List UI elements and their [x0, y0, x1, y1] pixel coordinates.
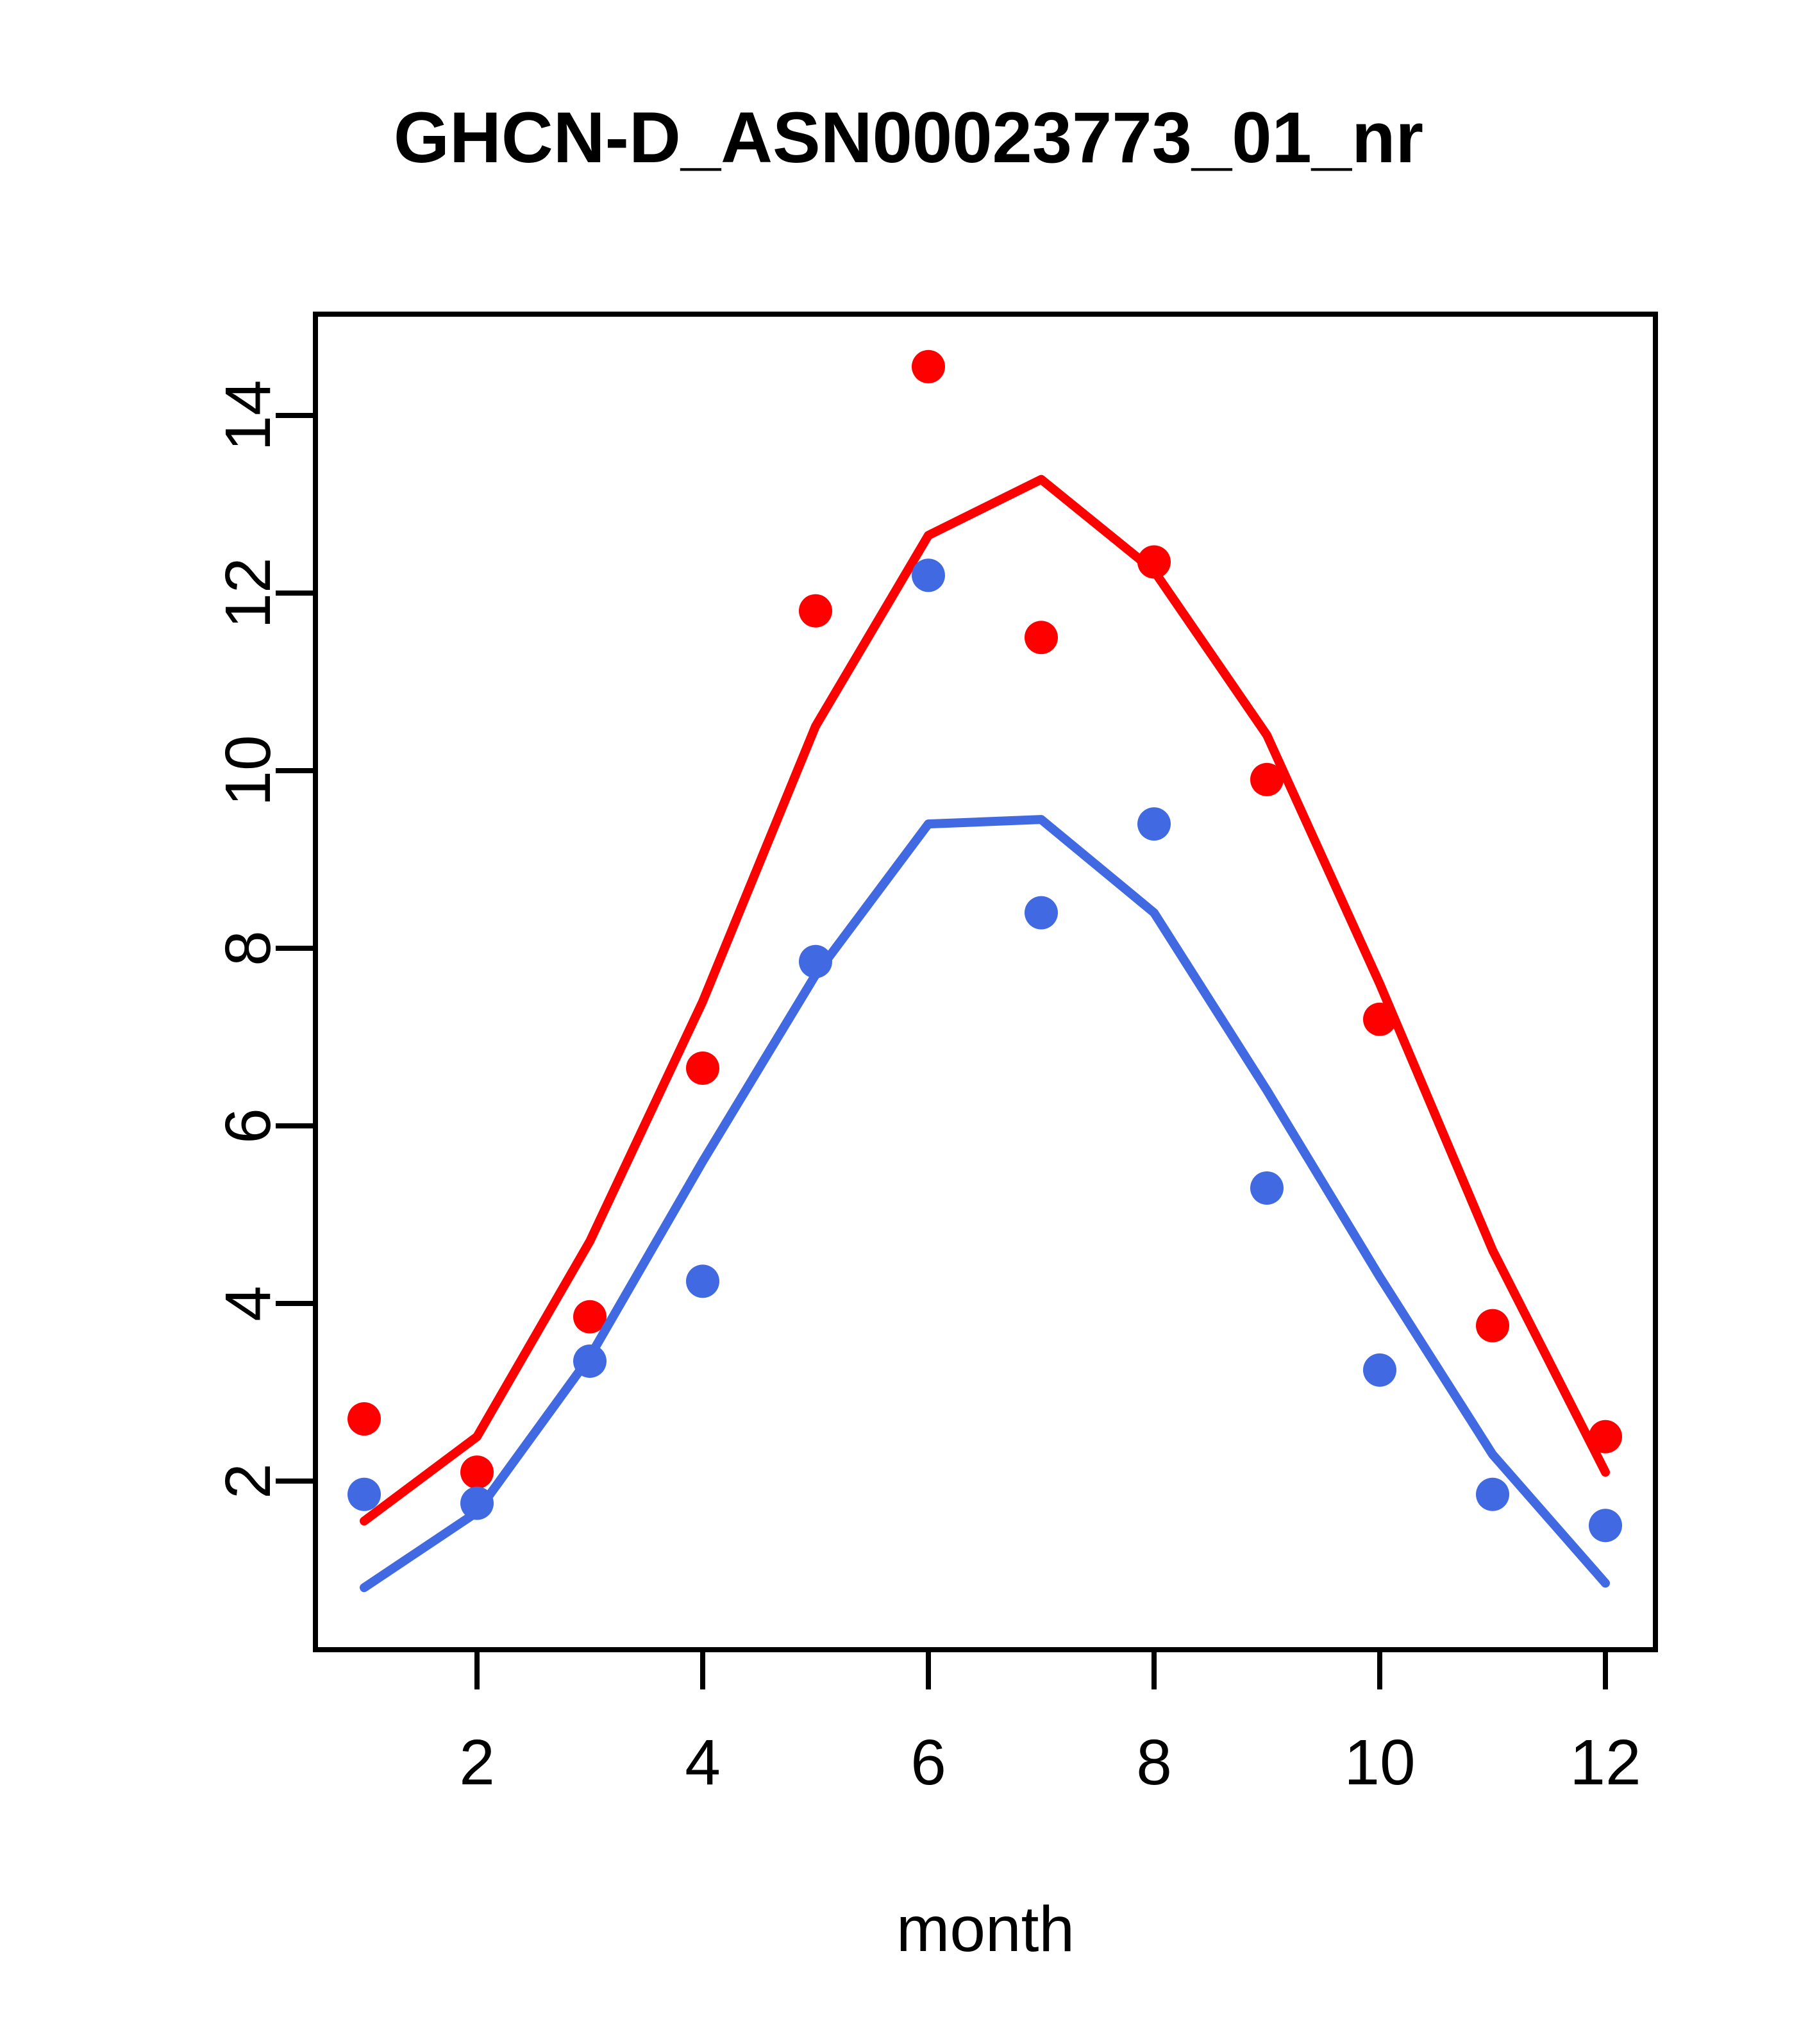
y-tick-label: 14 — [212, 380, 284, 451]
data-point — [686, 1264, 719, 1298]
data-point — [686, 1051, 719, 1085]
data-point — [1250, 763, 1284, 796]
y-tick-label: 8 — [212, 930, 284, 966]
data-point — [1137, 546, 1171, 579]
x-tick-label: 2 — [459, 1727, 495, 1798]
axis-titles: month — [896, 1893, 1075, 1965]
x-tick-label: 10 — [1344, 1727, 1415, 1798]
plot-area: 246810121424681012 month — [0, 0, 1817, 2044]
data-point — [460, 1487, 494, 1520]
data-point — [1476, 1309, 1509, 1343]
x-axis-title: month — [896, 1893, 1075, 1965]
y-tick-label: 12 — [212, 557, 284, 628]
series-line-red-line — [364, 480, 1605, 1521]
data-point — [1476, 1478, 1509, 1511]
data-point — [1363, 1353, 1396, 1387]
data-point — [1025, 896, 1058, 930]
plot-box — [315, 314, 1655, 1650]
y-tick-label: 6 — [212, 1108, 284, 1144]
x-tick-label: 8 — [1136, 1727, 1172, 1798]
series-points-blue-points — [347, 558, 1622, 1542]
data-point — [1025, 621, 1058, 654]
data-point — [912, 350, 945, 383]
data-point — [1589, 1420, 1622, 1453]
data-point — [1137, 807, 1171, 841]
x-tick-label: 4 — [685, 1727, 721, 1798]
data-point — [1250, 1171, 1284, 1205]
data-point — [799, 594, 832, 628]
x-tick-label: 12 — [1570, 1727, 1641, 1798]
data-point — [573, 1345, 607, 1378]
data-point — [912, 558, 945, 592]
data-point — [347, 1402, 381, 1436]
data-point — [1363, 1003, 1396, 1036]
series-points-red-points — [347, 350, 1622, 1489]
y-tick-label: 2 — [212, 1463, 284, 1499]
data-point — [1589, 1509, 1622, 1542]
data-point — [460, 1455, 494, 1489]
chart-page: GHCN-D_ASN00023773_01_nr 246810121424681… — [0, 0, 1817, 2044]
x-tick-label: 6 — [910, 1727, 946, 1798]
plot-frame — [315, 314, 1655, 1650]
y-tick-label: 10 — [212, 735, 284, 806]
data-series — [347, 350, 1622, 1587]
data-point — [347, 1478, 381, 1511]
y-tick-label: 4 — [212, 1286, 284, 1321]
data-point — [799, 945, 832, 978]
series-line-blue-line — [364, 819, 1605, 1587]
